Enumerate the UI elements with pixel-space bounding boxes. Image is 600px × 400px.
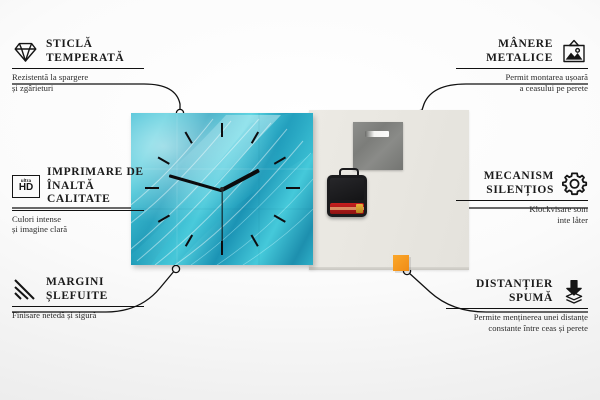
callout-title-line2: SPUMĂ: [476, 292, 553, 306]
callout-subtitle-line2: și imagine clară: [12, 224, 144, 234]
panel-bottom-edge: [309, 267, 469, 270]
callout-subtitle-line1: Finisare netedă și sigură: [12, 310, 144, 320]
callout-subtitle-line2: și zgârieturi: [12, 83, 144, 93]
callout-rule: [446, 308, 588, 309]
callout-title-line2: METALICE: [486, 52, 553, 66]
callout-header: MARGINI ȘLEFUITE: [12, 276, 144, 303]
clock-hub: [220, 187, 224, 191]
battery-terminal: [356, 204, 363, 213]
quartz-clock-movement: [327, 175, 367, 217]
diagonal-lines-icon: [12, 278, 39, 301]
callout-header: DISTANȚIER SPUMĂ: [446, 278, 588, 305]
callout-subtitle-line2: a ceasului pe perete: [456, 83, 588, 93]
callout-subtitle-line1: Permit montarea ușoară: [456, 72, 588, 82]
ultra-hd-icon: ultra HD: [12, 175, 40, 198]
callout-rule: [12, 306, 144, 307]
metal-hanger-plate: [353, 122, 403, 170]
callout-tempered-glass: STICLĂ TEMPERATĂ Rezistentă la spargere …: [12, 38, 144, 93]
callout-rule: [456, 200, 588, 201]
hd-icon-hd-text: HD: [19, 183, 33, 193]
callout-subtitle-line2: inte låter: [456, 215, 588, 225]
callout-silent-mechanism: MECANISM SILENȚIOS Klockvisare som inte …: [456, 170, 588, 225]
callout-title-line2: SILENȚIOS: [484, 184, 554, 198]
gear-icon: [561, 171, 588, 197]
callout-title-line1: IMPRIMARE DE: [47, 166, 144, 180]
callout-title-line1: MARGINI: [46, 276, 108, 290]
product-photo: [131, 110, 469, 270]
callout-subtitle-line1: Culori intense: [12, 214, 144, 224]
callout-title-line2: ȘLEFUITE: [46, 290, 108, 304]
callout-header: ultra HD IMPRIMARE DE ÎNALTĂ CALITATE: [12, 166, 144, 207]
foam-spacer: [393, 255, 409, 271]
tick-12: [221, 123, 223, 137]
callout-subtitle-line1: Rezistentă la spargere: [12, 72, 144, 82]
wall-clock-face: [131, 113, 313, 265]
hanging-picture-icon: [560, 39, 588, 65]
infographic-canvas: STICLĂ TEMPERATĂ Rezistentă la spargere …: [0, 0, 600, 400]
second-hand: [221, 190, 222, 252]
callout-rule: [12, 68, 144, 69]
callout-title-line1: STICLĂ: [46, 38, 124, 52]
callout-subtitle-line1: Klockvisare som: [456, 204, 588, 214]
callout-title-line1: MECANISM: [484, 170, 554, 184]
callout-header: MÂNERE METALICE: [456, 38, 588, 65]
callout-foam-spacer: DISTANȚIER SPUMĂ Permite menținerea unei…: [446, 278, 588, 333]
hanger-slot: [365, 131, 389, 137]
callout-title-line2: TEMPERATĂ: [46, 52, 124, 66]
callout-rule: [456, 68, 588, 69]
callout-header: STICLĂ TEMPERATĂ: [12, 38, 144, 65]
callout-title-line1: DISTANȚIER: [476, 278, 553, 292]
tick-3: [286, 187, 300, 189]
callout-title-line1: MÂNERE: [486, 38, 553, 52]
callout-subtitle-line1: Permite menținerea unei distanțe: [446, 312, 588, 322]
callout-metal-handles: MÂNERE METALICE Permit montarea ușoară a…: [456, 38, 588, 93]
down-arrow-stack-icon: [560, 279, 588, 305]
tick-9: [145, 187, 159, 189]
battery: [330, 203, 364, 214]
callout-header: MECANISM SILENȚIOS: [456, 170, 588, 197]
callout-title-line2: ÎNALTĂ CALITATE: [47, 180, 144, 207]
diamond-icon: [12, 41, 39, 63]
callout-subtitle-line2: constante între ceas și perete: [446, 323, 588, 333]
callout-polished-edges: MARGINI ȘLEFUITE Finisare netedă și sigu…: [12, 276, 144, 321]
callout-high-quality-print: ultra HD IMPRIMARE DE ÎNALTĂ CALITATE Cu…: [12, 166, 144, 234]
movement-body: [330, 178, 364, 200]
callout-rule: [12, 210, 144, 211]
